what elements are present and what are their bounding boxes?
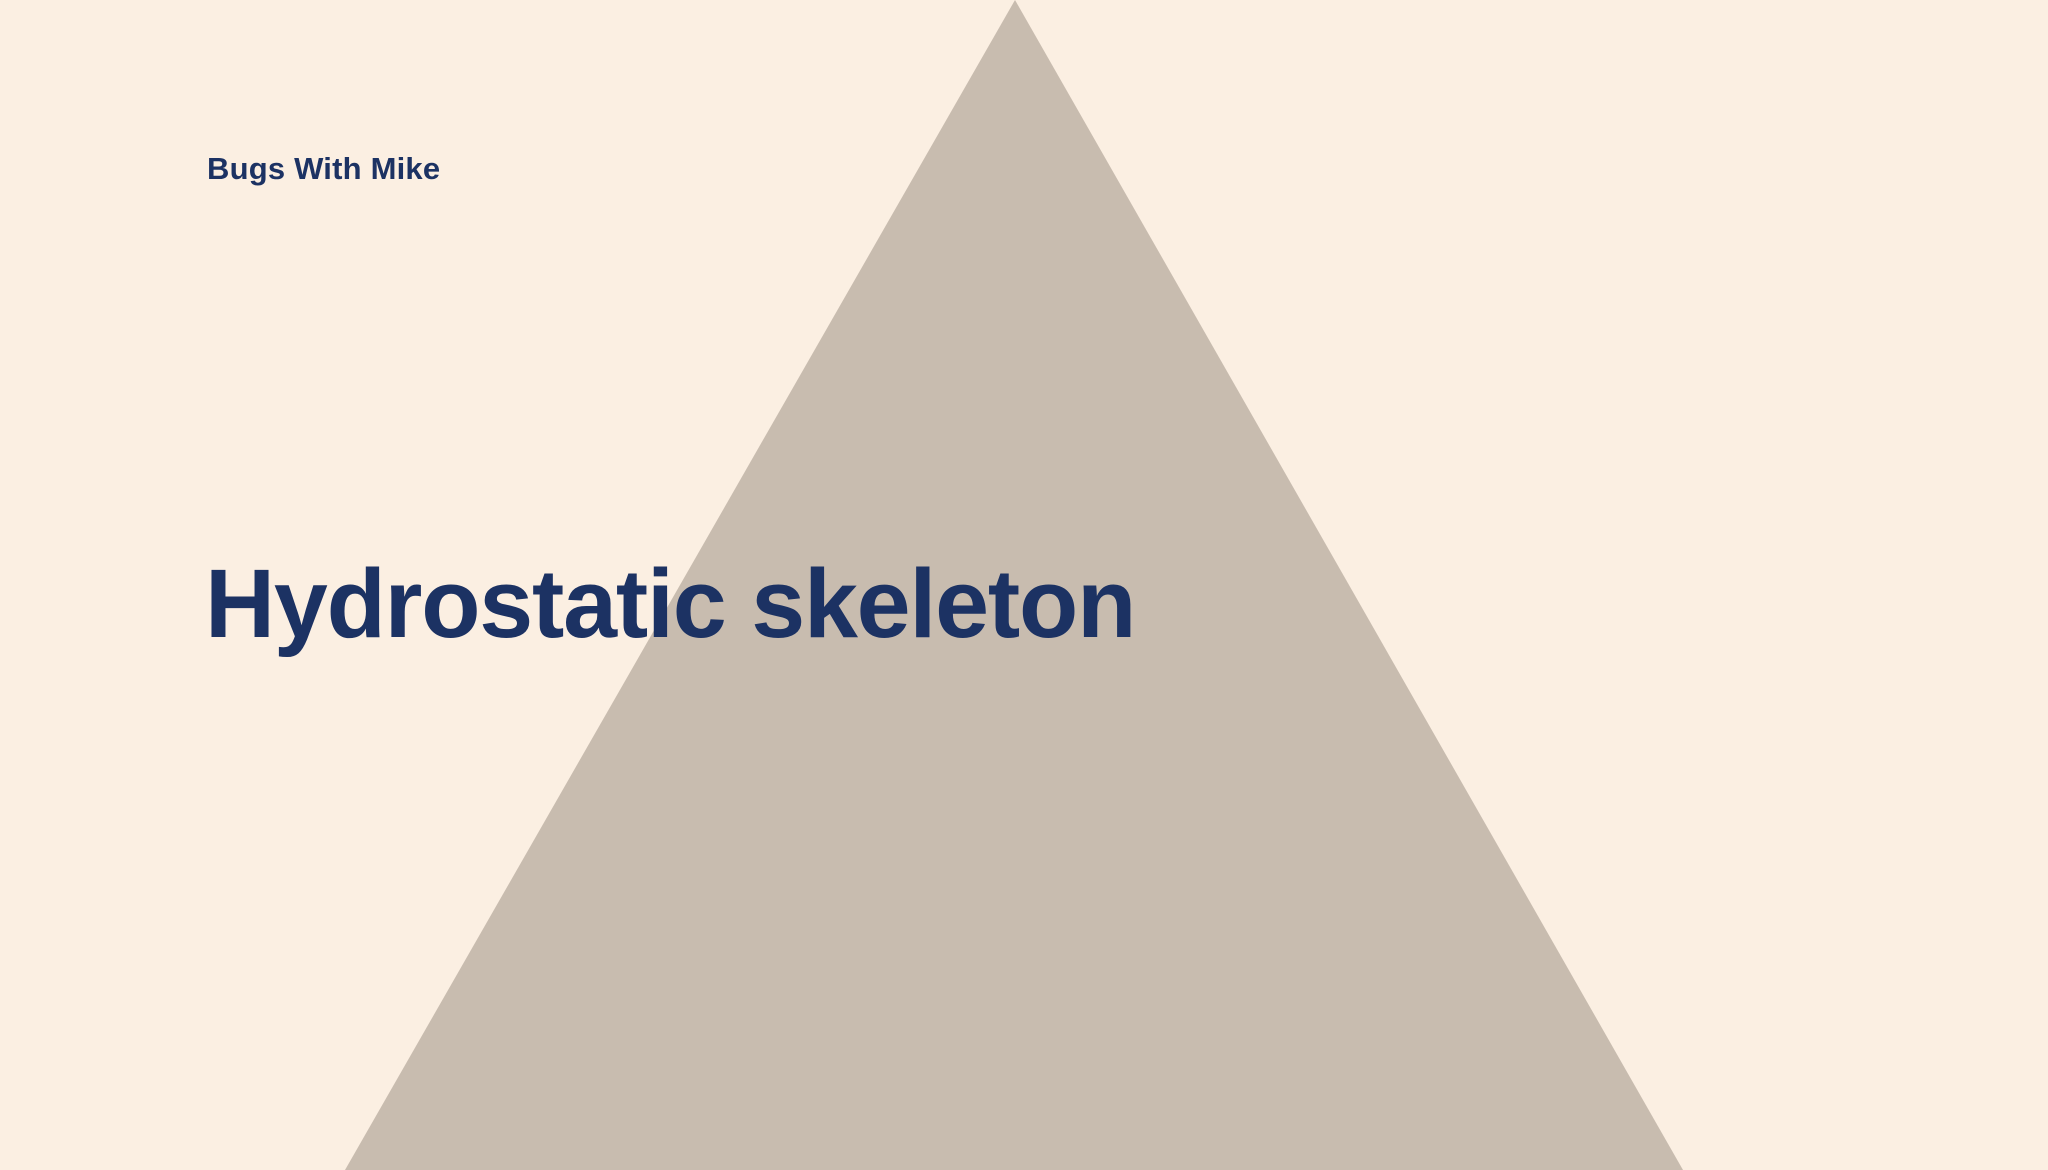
page-title: Hydrostatic skeleton <box>205 551 1135 658</box>
slide-content: Bugs With Mike Hydrostatic skeleton <box>0 0 2048 1170</box>
slide-canvas: Bugs With Mike Hydrostatic skeleton <box>0 0 2048 1170</box>
brand-label: Bugs With Mike <box>207 150 440 187</box>
